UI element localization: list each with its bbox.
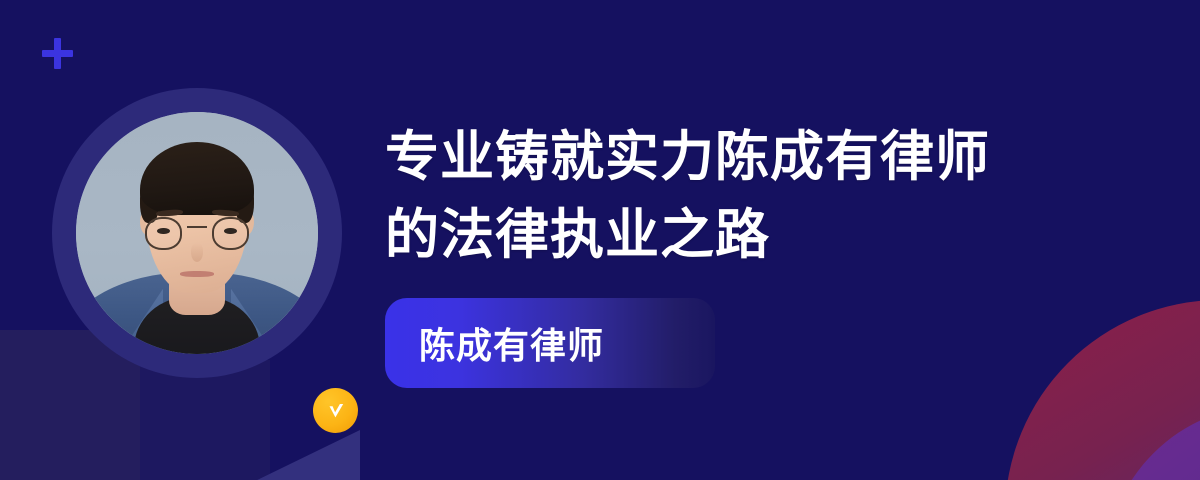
lawyer-name-button[interactable]: 陈成有律师 [385,298,715,388]
portrait-mouth [180,271,214,277]
portrait-image [76,112,318,354]
portrait-nose [191,243,203,262]
headline-block: 专业铸就实力陈成有律师 的法律执业之路 [385,118,1085,274]
glasses-icon-left-lens [145,217,183,250]
lawyer-profile-banner: 专业铸就实力陈成有律师 的法律执业之路 陈成有律师 [0,0,1200,480]
glasses-icon-bridge [187,226,206,228]
page-title: 专业铸就实力陈成有律师 的法律执业之路 [385,118,1085,274]
avatar-photo [76,112,318,354]
decorative-plate-center [140,360,270,480]
plus-icon [42,38,73,69]
portrait-hair [140,142,254,215]
glasses-icon-right-lens [212,217,250,250]
avatar [52,88,342,378]
verified-badge-icon [313,388,358,433]
